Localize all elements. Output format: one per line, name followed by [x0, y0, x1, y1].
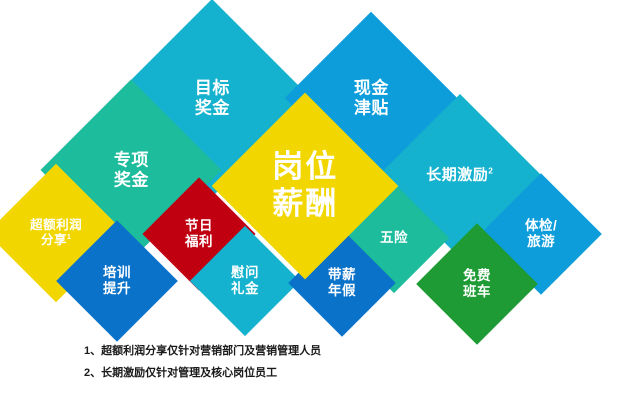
footnote-marker-excess-profit-share: 1: [67, 234, 71, 241]
diamond-label-special-bonus: 专项 奖金: [114, 150, 149, 190]
diamond-label-paid-annual-leave: 带薪 年假: [328, 267, 356, 299]
diamond-label-position-salary: 岗位 薪酬: [272, 149, 338, 222]
diagram-canvas: 岗位 薪酬目标 奖金现金 津贴专项 奖金长期激励2超额利润 分享1节日 福利五险…: [0, 0, 630, 420]
diamond-label-medical-travel: 体检/ 旅游: [525, 218, 557, 250]
diamond-label-excess-profit-share: 超额利润 分享1: [30, 218, 82, 248]
diamond-label-five-insurances: 五险: [380, 230, 408, 246]
diamond-label-holiday-benefit: 节日 福利: [185, 218, 213, 250]
footnote-list: 1、超额利润分享仅针对营销部门及营销管理人员2、长期激励仅针对管理及核心岗位员工: [84, 340, 554, 384]
footnote-marker-long-term-incentive: 2: [488, 167, 493, 176]
diamond-label-cash-allowance: 现金 津贴: [354, 78, 389, 118]
diamond-label-training-upgrade: 培训 提升: [103, 265, 131, 297]
footnote-2: 2、长期激励仅针对管理及核心岗位员工: [84, 362, 554, 384]
diamond-label-target-bonus: 目标 奖金: [195, 78, 230, 118]
diamond-label-free-shuttle-bus: 免费 班车: [463, 268, 491, 300]
footnote-1: 1、超额利润分享仅针对营销部门及营销管理人员: [84, 340, 554, 362]
diamond-label-long-term-incentive: 长期激励2: [426, 167, 493, 185]
diamond-label-condolence-gift: 慰问 礼金: [231, 265, 259, 297]
